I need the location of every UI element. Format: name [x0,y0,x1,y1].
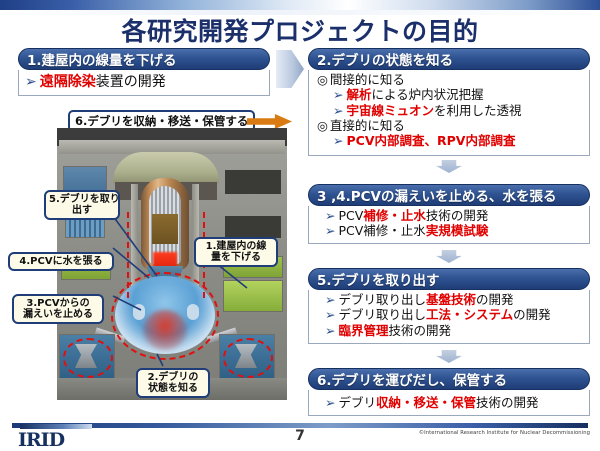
box-6-header: 6.デブリを運びだし、保管する [308,368,590,390]
box-1-header: 1.建屋内の線量を下げる [18,48,270,70]
list-item-text: 直接的に知る [330,118,405,133]
list-item-highlight: 宇宙線ミュオン [346,103,434,118]
list-item-prefix: デブリ取り出し [338,292,426,307]
list-item-suffix: 技術の開発 [426,208,489,223]
list-item: ➢ PCV 補修・止水 技術の開発 [315,208,585,223]
callout-2-line-1: 2.デブリの [141,372,205,383]
list-item-prefix: PCV補修・止水 [338,223,425,238]
bullet-arrow-icon: ➢ [325,395,335,410]
page-title: 各研究開発プロジェクトの目的 [0,12,600,48]
list-item-prefix: デブリ取り出し [338,307,426,322]
list-item: ◎ 直接的に知る [315,118,585,133]
callout-1-line-2: 量を下げる [199,252,273,263]
box-2-header-label: 2.デブリの状態を知る [317,49,453,69]
circle-bullet-icon: ◎ [317,72,328,87]
list-item-prefix: PCV [338,208,363,223]
callout-1-line-1: 1.建屋内の線 [199,241,273,252]
bullet-arrow-icon: ➢ [325,208,335,223]
callout-5-line-1: 5.デブリを取り [49,194,115,205]
list-item-highlight: 遠隔除染 [40,74,96,91]
list-item-highlight: 基盤技術 [426,292,476,307]
group-box-34: 3 ,4.PCVの漏えいを止める、水を張る ➢ PCV 補修・止水 技術の開発 … [308,184,590,244]
box-34-header: 3 ,4.PCVの漏えいを止める、水を張る [308,184,590,206]
flow-chevron-down-icon-1 [436,160,462,173]
list-item-highlight: 補修・止水 [363,208,426,223]
list-item-prefix: デブリ [338,395,376,410]
list-item-text: を利用した透視 [434,103,522,118]
slide-root: 各研究開発プロジェクトの目的 1.建屋内の線量を下げる ➢ 遠隔除染 装置の開発… [0,0,600,450]
group-box-2: 2.デブリの状態を知る ◎ 間接的に知る ➢ 解析 による炉内状況把握 ➢ 宇宙… [308,48,590,156]
bullet-arrow-icon: ➢ [325,307,335,322]
copyright-notice: ©International Research Institute for Nu… [419,430,590,436]
list-item-suffix: の開発 [513,307,551,322]
list-item: ➢ デブリ 収納・移送・保管 技術の開発 [315,395,539,410]
list-item: ◎ 間接的に知る [315,72,585,87]
box-2-body: ◎ 間接的に知る ➢ 解析 による炉内状況把握 ➢ 宇宙線ミュオン を利用した透… [308,70,590,156]
callout-4: 4.PCVに水を張る [8,252,114,271]
bullet-arrow-icon: ➢ [325,223,335,238]
list-item: ➢ デブリ取り出し 工法・システム の開発 [315,307,585,322]
box-1-body: ➢ 遠隔除染 装置の開発 [18,70,270,96]
list-item-highlight: 実規模試験 [426,223,489,238]
callout-1: 1.建屋内の線 量を下げる [194,237,278,267]
box-5-body: ➢ デブリ取り出し 基盤技術 の開発 ➢ デブリ取り出し 工法・システム の開発… [308,290,590,344]
list-item-suffix: 技術の開発 [389,323,452,338]
circle-bullet-icon: ◎ [317,118,328,133]
bullet-arrow-icon: ➢ [25,74,37,91]
list-item: ➢ 遠隔除染 装置の開発 [25,74,166,91]
flow-chevron-right-icon [276,50,304,88]
group-box-5: 5.デブリを取り出す ➢ デブリ取り出し 基盤技術 の開発 ➢ デブリ取り出し … [308,268,590,344]
box-5-header-label: 5.デブリを取り出す [317,269,440,289]
list-item-highlight: 臨界管理 [338,323,388,338]
callout-2: 2.デブリの 状態を知る [136,368,210,398]
callout-4-line-1: 4.PCVに水を張る [13,256,109,267]
list-item-text: 間接的に知る [330,72,405,87]
list-item-text: 装置の開発 [96,74,166,91]
box-6-header-label: 6.デブリを運びだし、保管する [317,369,507,389]
bullet-arrow-icon: ➢ [325,323,335,338]
box-2-header: 2.デブリの状態を知る [308,48,590,70]
callout-2-line-2: 状態を知る [141,383,205,394]
list-item: ➢ デブリ取り出し 基盤技術 の開発 [315,292,585,307]
top-decor-bar [0,0,600,10]
box-5-header: 5.デブリを取り出す [308,268,590,290]
list-item-highlight: 収納・移送・保管 [376,395,476,410]
callout-3: 3.PCVからの 漏えいを止める [12,294,104,324]
list-item-suffix: 技術の開発 [476,395,539,410]
callout-5-line-2: 出す [49,205,115,216]
callout-3-line-2: 漏えいを止める [17,309,99,320]
callout-3-line-1: 3.PCVからの [17,298,99,309]
box-6-body: ➢ デブリ 収納・移送・保管 技術の開発 [308,390,590,416]
list-item-highlight: 工法・システム [426,307,513,322]
list-item-suffix: の開発 [476,292,514,307]
box-34-body: ➢ PCV 補修・止水 技術の開発 ➢ PCV補修・止水 実規模試験 [308,206,590,244]
bullet-arrow-icon: ➢ [333,87,343,102]
list-item-highlight: 解析 [346,87,371,102]
bullet-arrow-icon: ➢ [325,292,335,307]
callout-5: 5.デブリを取り 出す [44,190,120,220]
flow-chevron-down-icon-3 [436,350,462,363]
bullet-arrow-icon: ➢ [333,103,343,118]
list-item: ➢ 宇宙線ミュオン を利用した透視 [315,103,585,118]
group-box-1: 1.建屋内の線量を下げる ➢ 遠隔除染 装置の開発 [18,48,270,96]
list-item: ➢ PCV補修・止水 実規模試験 [315,223,585,238]
box-1-header-label: 1.建屋内の線量を下げる [27,49,177,69]
group-box-6: 6.デブリを運びだし、保管する ➢ デブリ 収納・移送・保管 技術の開発 [308,368,590,416]
list-item: ➢ PCV内部調査、RPV内部調査 [315,133,585,148]
bullet-arrow-icon: ➢ [333,133,343,148]
list-item: ➢ 臨界管理 技術の開発 [315,323,585,338]
list-item-highlight: PCV内部調査、RPV内部調査 [346,133,515,148]
flow-chevron-down-icon-2 [436,250,462,263]
box-34-header-label: 3 ,4.PCVの漏えいを止める、水を張る [317,185,557,205]
list-item: ➢ 解析 による炉内状況把握 [315,87,585,102]
list-item-text: による炉内状況把握 [372,87,484,102]
